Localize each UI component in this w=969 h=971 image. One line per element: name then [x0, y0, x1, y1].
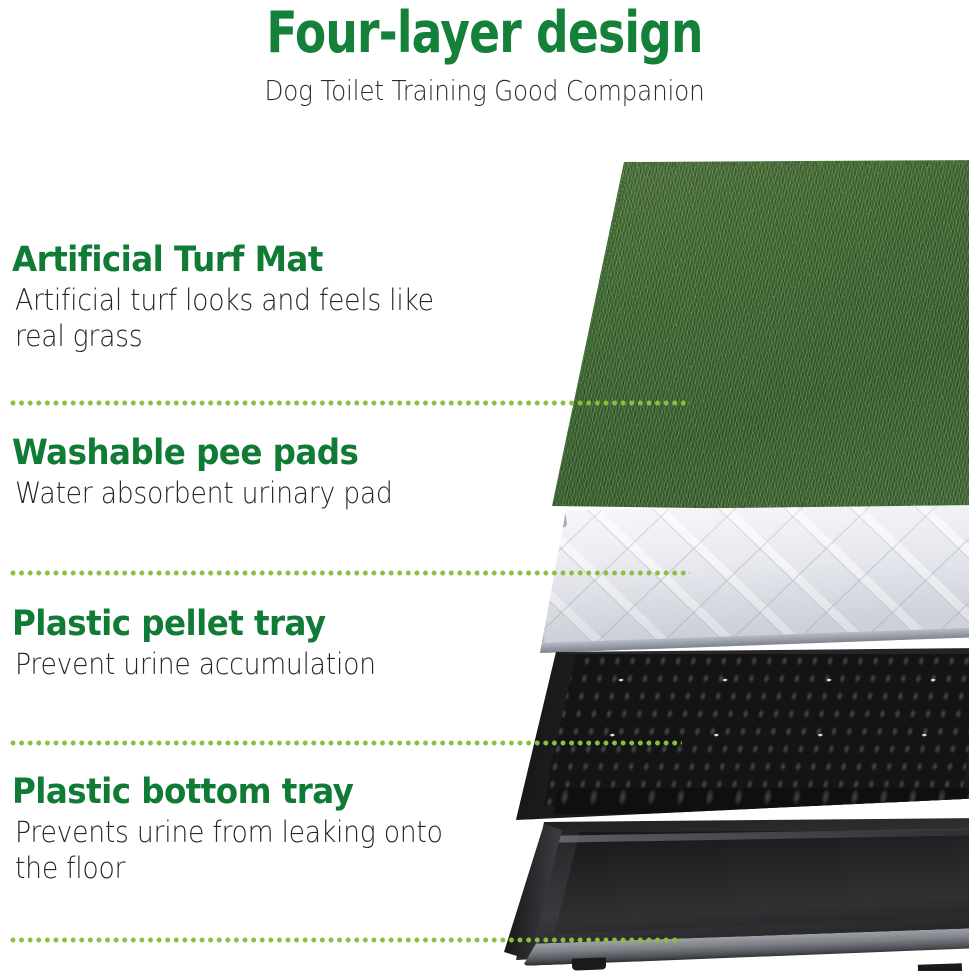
- divider-pellet: [10, 740, 682, 746]
- feature-description-artificial-turf-mat: Artificial turf looks and feels like rea…: [15, 282, 447, 354]
- feature-block-plastic-pellet-tray: Plastic pellet tray Prevent urine accumu…: [0, 604, 560, 682]
- feature-heading-plastic-pellet-tray: Plastic pellet tray: [12, 604, 522, 644]
- bottom-tray-foot-right: [918, 963, 962, 971]
- page-title: Four-layer design: [97, 2, 872, 64]
- infographic-canvas: Four-layer design Dog Toilet Training Go…: [0, 0, 969, 971]
- divider-pad: [10, 570, 690, 576]
- page-subtitle: Dog Toilet Training Good Companion: [58, 74, 911, 108]
- pellet-tray-base: [516, 648, 969, 820]
- pellet-tray-peg-grid: [544, 654, 969, 806]
- bottom-tray-inner-basin: [554, 830, 969, 934]
- pee-pad-bottom-binding: [538, 627, 969, 656]
- pellet-tray-front-peg-row: [554, 788, 969, 814]
- pee-pad-shading: [536, 505, 969, 653]
- pee-pad-layer-image: [536, 505, 969, 653]
- feature-description-plastic-pellet-tray: Prevent urine accumulation: [15, 646, 447, 682]
- header: Four-layer design Dog Toilet Training Go…: [0, 0, 969, 128]
- bottom-tray-foot-left: [572, 957, 606, 970]
- turf-fringe-bottom-edge: [552, 502, 969, 522]
- pellet-tray-layer-image: [516, 648, 969, 820]
- feature-heading-plastic-bottom-tray: Plastic bottom tray: [12, 772, 522, 812]
- artificial-turf-layer-image: [552, 160, 969, 512]
- feature-description-washable-pee-pads: Water absorbent urinary pad: [15, 475, 447, 511]
- pee-pad-quilted-face: [536, 505, 969, 653]
- feature-block-plastic-bottom-tray: Plastic bottom tray Prevents urine from …: [0, 772, 560, 886]
- pellet-tray-drain-holes: [601, 674, 969, 770]
- turf-fringe-top-edge: [612, 153, 969, 167]
- feature-description-plastic-bottom-tray: Prevents urine from leaking onto the flo…: [15, 814, 447, 886]
- divider-bottom: [10, 937, 682, 943]
- bottom-tray-front-lip: [522, 928, 969, 966]
- bottom-tray-rim-highlight: [558, 828, 969, 842]
- divider-turf: [10, 400, 690, 406]
- feature-block-washable-pee-pads: Washable pee pads Water absorbent urinar…: [0, 433, 560, 511]
- feature-heading-washable-pee-pads: Washable pee pads: [12, 433, 522, 473]
- turf-fiber-speckle: [552, 160, 969, 512]
- feature-heading-artificial-turf-mat: Artificial Turf Mat: [12, 240, 522, 280]
- feature-block-artificial-turf-mat: Artificial Turf Mat Artificial turf look…: [0, 240, 560, 354]
